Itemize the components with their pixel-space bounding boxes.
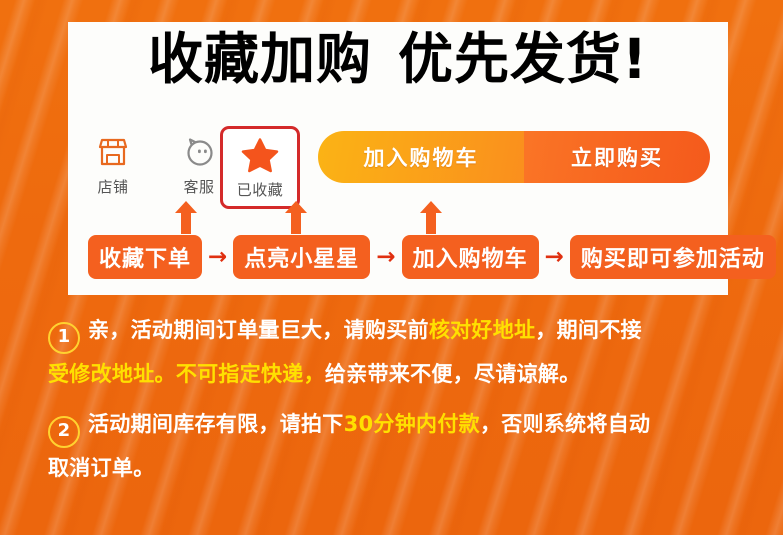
step-label: 购买即可参加活动 xyxy=(581,241,765,273)
note-item-1-line-2: 受修改地址。不可指定快递，给亲带来不便，尽请谅解。 xyxy=(48,363,748,386)
buy-now-label: 立即购买 xyxy=(571,142,663,172)
note-marker-2: 2 xyxy=(48,416,80,448)
favorite-label: 已收藏 xyxy=(223,179,297,200)
add-to-cart-button[interactable]: 加入购物车 xyxy=(318,131,524,183)
favorite-entry[interactable]: 已收藏 xyxy=(220,126,300,209)
note-item-1-line-1: 1亲，活动期间订单量巨大，请购买前核对好地址，期间不接 xyxy=(48,319,748,354)
page-title: 收藏加购优先发货! xyxy=(68,28,728,90)
step-label: 收藏下单 xyxy=(99,241,191,273)
note-text: 活动期间库存有限，请拍下30分钟内付款，否则系统将自动 xyxy=(88,412,650,436)
note-text: 受修改地址。不可指定快递，给亲带来不便，尽请谅解。 xyxy=(48,362,581,386)
add-to-cart-label: 加入购物车 xyxy=(364,142,479,172)
note-text: 亲，活动期间订单量巨大，请购买前核对好地址，期间不接 xyxy=(88,318,642,342)
star-icon xyxy=(223,133,297,177)
headline-right: 优先发货! xyxy=(398,27,648,91)
notes-section: 1亲，活动期间订单量巨大，请购买前核对好地址，期间不接 受修改地址。不可指定快递… xyxy=(0,305,783,535)
note-marker-1: 1 xyxy=(48,322,80,354)
step-label: 点亮小星星 xyxy=(244,241,359,273)
shop-entry[interactable]: 店铺 xyxy=(76,130,150,197)
storefront-icon xyxy=(76,130,150,174)
step-separator-icon: → xyxy=(539,246,570,269)
step-pill[interactable]: 点亮小星星 xyxy=(233,235,370,279)
step-pill[interactable]: 购买即可参加活动 xyxy=(570,235,776,279)
buy-now-button[interactable]: 立即购买 xyxy=(524,131,710,183)
step-pill[interactable]: 加入购物车 xyxy=(402,235,539,279)
connector-arrow-up-icon xyxy=(418,200,444,234)
step-pill[interactable]: 收藏下单 xyxy=(88,235,202,279)
promo-card: 收藏加购优先发货! 店铺 客服 xyxy=(68,22,728,295)
connector-arrow-up-icon xyxy=(283,200,309,234)
step-separator-icon: → xyxy=(370,246,401,269)
note-item-2-line-2: 取消订单。 xyxy=(48,457,748,480)
step-flow: 收藏下单 → 点亮小星星 → 加入购物车 → 购买即可参加活动 xyxy=(88,234,712,280)
note-item-2-line-1: 2活动期间库存有限，请拍下30分钟内付款，否则系统将自动 xyxy=(48,413,748,448)
note-text: 取消订单。 xyxy=(48,456,155,480)
step-label: 加入购物车 xyxy=(413,241,528,273)
shop-label: 店铺 xyxy=(76,176,150,197)
step-separator-icon: → xyxy=(202,246,233,269)
connector-arrow-up-icon xyxy=(173,200,199,234)
action-button-group: 加入购物车 立即购买 xyxy=(318,131,710,183)
headline-left: 收藏加购 xyxy=(148,27,372,91)
